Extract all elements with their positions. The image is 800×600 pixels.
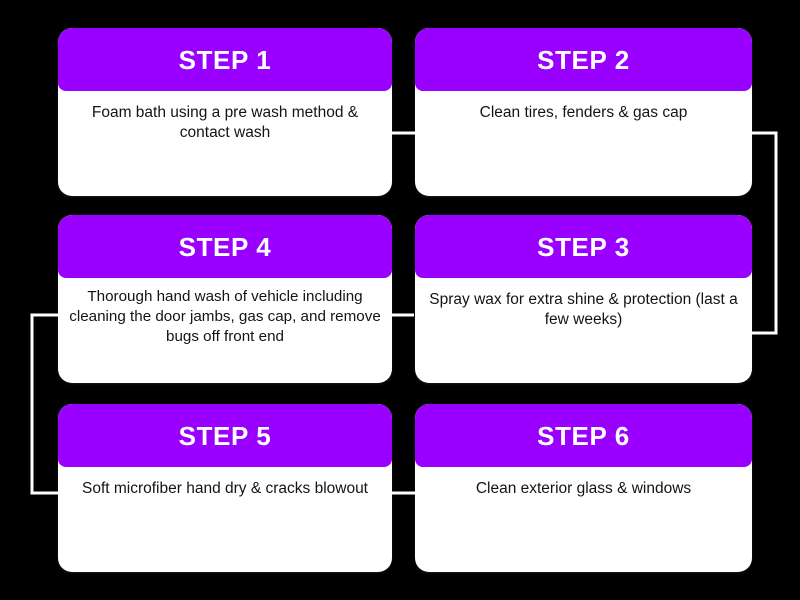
step-5-header: STEP 5 bbox=[58, 404, 392, 467]
step-card-3[interactable]: STEP 3 Spray wax for extra shine & prote… bbox=[415, 215, 752, 383]
step-card-2[interactable]: STEP 2 Clean tires, fenders & gas cap bbox=[415, 28, 752, 196]
step-2-header: STEP 2 bbox=[415, 28, 752, 91]
flowchart-canvas: STEP 1 Foam bath using a pre wash method… bbox=[0, 0, 800, 600]
step-1-body: Foam bath using a pre wash method & cont… bbox=[58, 91, 392, 196]
step-4-header: STEP 4 bbox=[58, 215, 392, 278]
step-3-header: STEP 3 bbox=[415, 215, 752, 278]
step-6-header: STEP 6 bbox=[415, 404, 752, 467]
step-3-body: Spray wax for extra shine & protection (… bbox=[415, 278, 752, 383]
step-5-body: Soft microfiber hand dry & cracks blowou… bbox=[58, 467, 392, 572]
step-card-1[interactable]: STEP 1 Foam bath using a pre wash method… bbox=[58, 28, 392, 196]
connector-step2-to-step3 bbox=[751, 133, 776, 333]
step-card-6[interactable]: STEP 6 Clean exterior glass & windows bbox=[415, 404, 752, 572]
step-2-body: Clean tires, fenders & gas cap bbox=[415, 91, 752, 196]
step-card-5[interactable]: STEP 5 Soft microfiber hand dry & cracks… bbox=[58, 404, 392, 572]
step-1-header: STEP 1 bbox=[58, 28, 392, 91]
step-4-body: Thorough hand wash of vehicle including … bbox=[58, 278, 392, 383]
step-card-4[interactable]: STEP 4 Thorough hand wash of vehicle inc… bbox=[58, 215, 392, 383]
connector-step4-to-step5 bbox=[32, 315, 59, 493]
step-6-body: Clean exterior glass & windows bbox=[415, 467, 752, 572]
